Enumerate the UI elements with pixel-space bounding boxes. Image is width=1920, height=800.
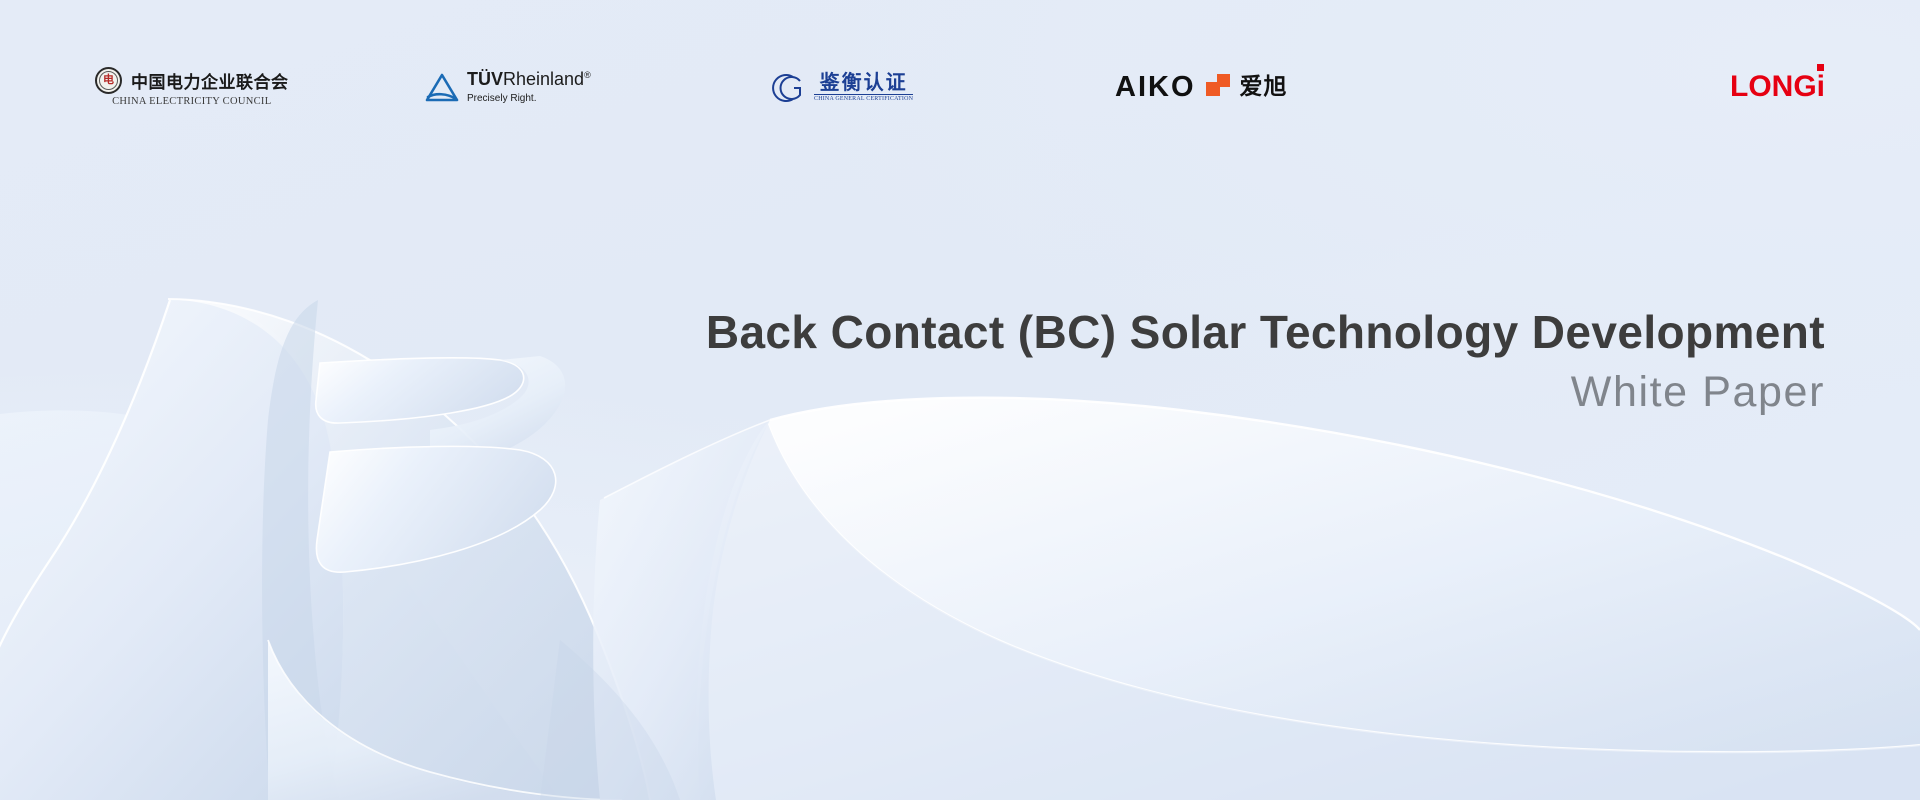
aiko-wordmark: AIKO	[1115, 73, 1196, 102]
logo-china-electricity-council: 电 中国电力企业联合会 CHINA ELECTRICITY COUNCIL	[95, 67, 425, 107]
headline-block: Back Contact (BC) Solar Technology Devel…	[525, 305, 1825, 419]
cgc-chinese-name: 鉴衡认证	[820, 72, 908, 92]
logo-china-general-certification: 鉴衡认证 CHINA GENERAL CERTIFICATION	[770, 71, 1115, 103]
longi-word: LONGi	[1730, 70, 1825, 103]
aiko-squares-icon	[1206, 74, 1230, 100]
tuv-registered-mark: ®	[584, 70, 591, 80]
cec-english-name: CHINA ELECTRICITY COUNCIL	[112, 96, 271, 107]
cec-seal-mark: 电	[103, 75, 114, 86]
tuv-word-bold: TÜV	[467, 69, 503, 89]
logo-aiko: AIKO 爱旭	[1115, 73, 1460, 102]
page-title: Back Contact (BC) Solar Technology Devel…	[525, 305, 1825, 359]
cover-page: 电 中国电力企业联合会 CHINA ELECTRICITY COUNCIL TÜ…	[0, 0, 1920, 800]
tuv-wordmark: TÜVRheinland®	[467, 70, 591, 89]
logo-longi: LONGi	[1460, 72, 1825, 102]
cec-seal-icon: 电	[95, 67, 122, 94]
tuv-tagline: Precisely Right.	[467, 93, 591, 104]
cgc-english-name: CHINA GENERAL CERTIFICATION	[814, 96, 913, 102]
cgc-divider	[814, 94, 913, 95]
cgc-monogram-icon	[770, 71, 806, 103]
aiko-chinese-name: 爱旭	[1240, 76, 1288, 99]
tuv-word-light: Rheinland	[503, 69, 584, 89]
logo-tuv-rheinland: TÜVRheinland® Precisely Right.	[425, 70, 770, 104]
cec-chinese-name: 中国电力企业联合会	[131, 68, 289, 93]
longi-wordmark: LONGi	[1730, 72, 1825, 102]
partner-logo-bar: 电 中国电力企业联合会 CHINA ELECTRICITY COUNCIL TÜ…	[0, 52, 1920, 122]
page-subtitle: White Paper	[525, 367, 1825, 419]
longi-dot	[1817, 64, 1824, 71]
tuv-triangle-icon	[425, 73, 457, 101]
aiko-square-upper	[1217, 74, 1230, 87]
